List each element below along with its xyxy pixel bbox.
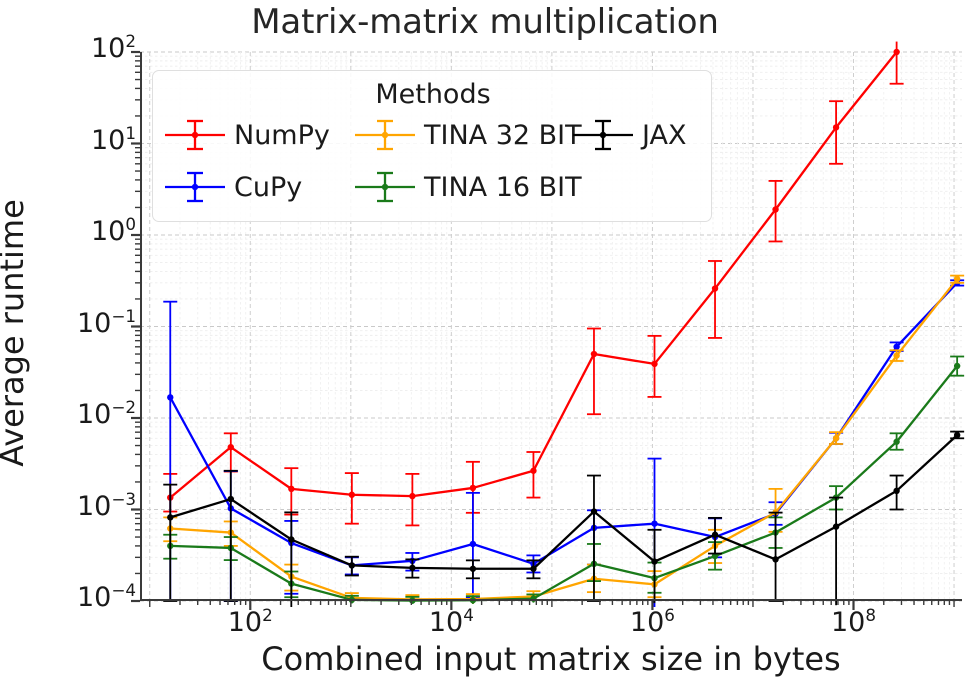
legend-item-label: JAX bbox=[642, 120, 686, 151]
errorbar-marker-icon bbox=[571, 115, 635, 155]
errorbar-marker-icon bbox=[163, 167, 227, 207]
x-tick-label: 108 bbox=[831, 607, 876, 638]
y-tick-label: 10−3 bbox=[77, 491, 136, 522]
y-axis-label-wrapper: Average runtime bbox=[18, 52, 58, 601]
errorbar-marker-icon bbox=[353, 167, 417, 207]
legend-item-numpy[interactable]: NumPy bbox=[163, 115, 330, 155]
page-title: Matrix-matrix multiplication bbox=[0, 2, 970, 42]
y-tick-label: 10−4 bbox=[77, 582, 136, 613]
x-axis-label: Combined input matrix size in bytes bbox=[140, 640, 962, 678]
errorbar-marker-icon bbox=[163, 115, 227, 155]
legend-item-tina-16-bit[interactable]: TINA 16 BIT bbox=[353, 167, 582, 207]
legend-item-label: CuPy bbox=[234, 172, 302, 203]
y-tick-label: 10−2 bbox=[77, 399, 136, 430]
x-tick-label: 102 bbox=[228, 607, 273, 638]
chart-figure: Matrix-matrix multiplication 10210110010… bbox=[0, 0, 970, 693]
x-tick-label: 104 bbox=[429, 607, 474, 638]
legend-title: Methods bbox=[153, 79, 713, 110]
y-tick-label: 101 bbox=[91, 125, 136, 156]
legend-item-label: NumPy bbox=[234, 120, 330, 151]
legend-item-label: TINA 32 BIT bbox=[424, 120, 582, 151]
legend-item-tina-32-bit[interactable]: TINA 32 BIT bbox=[353, 115, 582, 155]
legend-item-label: TINA 16 BIT bbox=[424, 172, 582, 203]
y-axis-label: Average runtime bbox=[0, 53, 31, 613]
y-tick-label: 100 bbox=[91, 216, 136, 247]
errorbar-marker-icon bbox=[353, 115, 417, 155]
x-tick-label: 106 bbox=[630, 607, 675, 638]
legend[interactable]: Methods NumPyTINA 32 BITJAXCuPyTINA 16 B… bbox=[152, 70, 712, 222]
y-tick-label: 10−1 bbox=[77, 308, 136, 339]
legend-item-cupy[interactable]: CuPy bbox=[163, 167, 302, 207]
legend-item-jax[interactable]: JAX bbox=[571, 115, 686, 155]
